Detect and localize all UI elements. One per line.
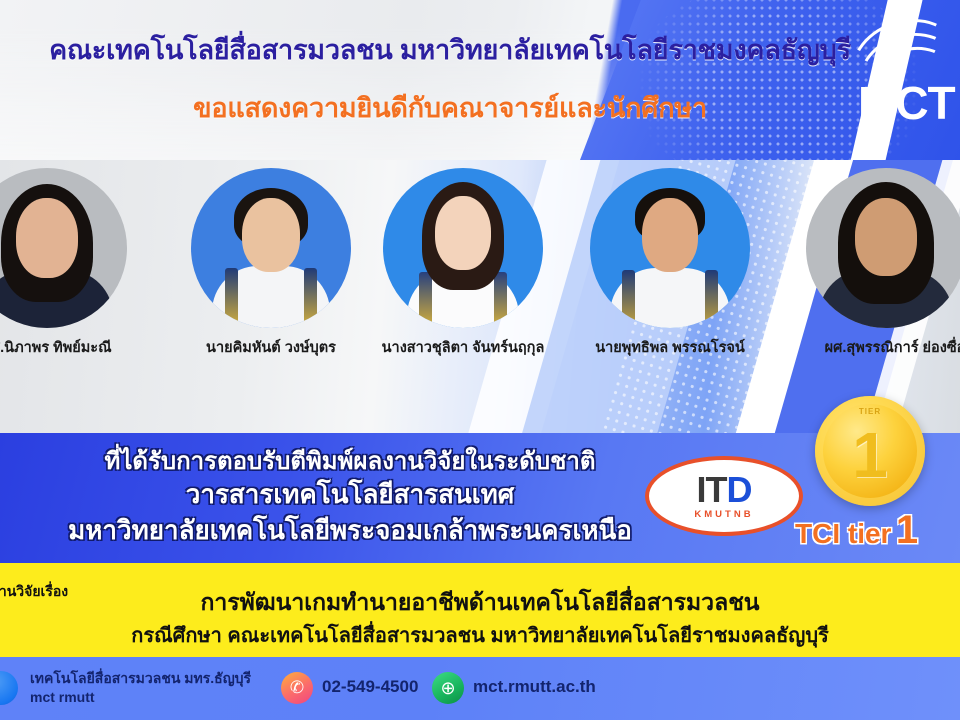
itd-logo-letters: ITD [696,472,751,508]
person-name: นายพุทธิพล พรรณโรจน์ [565,340,775,357]
avatar [590,168,750,328]
medal-number: 1 [852,423,888,487]
tci-tier-badge: TCI tier 1 [795,508,918,553]
poster-footer: เทคโนโลยีสื่อสารมวลชน มทร.ธัญบุรี mct rm… [0,657,960,720]
person-name: ผศ.สุพรรณิการ์ ย่องซื่อ [790,340,960,357]
portrait-head [16,198,78,278]
tci-tier-number: 1 [896,508,918,552]
people-photo-strip: ผศ.นิภาพร ทิพย์มะณี นายคิมหันต์ วงษ์บุตร [0,160,960,433]
avatar [0,168,127,328]
congratulations-poster: MCT คณะเทคโนโลยีสื่อสารมวลชน มหาวิทยาลัย… [0,0,960,720]
portrait-head [642,198,698,272]
portrait-sash [419,272,432,328]
research-subtitle: กรณีศึกษา คณะเทคโนโลยีสื่อสารมวลชน มหาวิ… [0,619,960,651]
header-background-pattern [0,0,620,160]
facebook-handle: mct rmutt [30,688,251,707]
itd-logo: ITD KMUTNB [645,456,803,536]
portrait-head [855,198,917,276]
itd-letter-t: T [706,469,727,510]
page-title: คณะเทคโนโลยีสื่อสารมวลชน มหาวิทยาลัยเทคโ… [0,28,900,71]
journal-line-2: วารสารเทคโนโลยีสารสนเทศ [0,479,700,511]
portrait-sash [494,272,507,328]
portrait-sash [622,270,635,328]
avatar [191,168,351,328]
gold-medal-icon: TIER 1 [815,396,925,506]
poster-header: MCT คณะเทคโนโลยีสื่อสารมวลชน มหาวิทยาลัย… [0,0,960,160]
avatar [806,168,960,328]
globe-icon[interactable]: ⊕ [432,672,464,704]
person-name: นางสาวชุลิตา จันทร์นฤกุล [358,340,568,357]
avatar-portrait [383,168,543,328]
tci-tier-label: TCI tier [795,518,891,549]
page-subtitle: ขอแสดงความยินดีกับคณาจารย์และนักศึกษา [0,86,900,129]
avatar [383,168,543,328]
website-url[interactable]: mct.rmutt.ac.th [473,677,596,697]
journal-line-3: มหาวิทยาลัยเทคโนโลยีพระจอมเกล้าพระนครเหน… [0,515,700,547]
avatar-portrait [0,168,127,328]
facebook-page-name: เทคโนโลยีสื่อสารมวลชน มทร.ธัญบุรี [30,669,251,688]
research-title-band: งานวิจัยเรื่อง การพัฒนาเกมทำนายอาชีพด้าน… [0,563,960,657]
phone-number[interactable]: 02-549-4500 [322,677,418,697]
facebook-contact: เทคโนโลยีสื่อสารมวลชน มทร.ธัญบุรี mct rm… [30,669,251,707]
itd-letter-d: D [727,469,752,510]
facebook-icon[interactable] [0,671,18,705]
avatar-portrait [590,168,750,328]
portrait-head [435,196,491,270]
person-name: นายคิมหันต์ วงษ์บุตร [166,340,376,357]
itd-letter-i: I [696,469,705,510]
phone-icon[interactable]: ✆ [281,672,313,704]
portrait-head [242,198,300,272]
research-title: การพัฒนาเกมทำนายอาชีพด้านเทคโนโลยีสื่อสา… [0,585,960,621]
avatar-portrait [806,168,960,328]
person-name: ผศ.นิภาพร ทิพย์มะณี [0,340,152,357]
portrait-sash [705,270,718,328]
journal-line-1: ที่ได้รับการตอบรับตีพิมพ์ผลงานวิจัยในระด… [0,447,700,476]
portrait-sash [304,268,317,328]
avatar-portrait [191,168,351,328]
itd-logo-subtitle: KMUTNB [694,509,753,520]
portrait-sash [225,268,238,328]
medal-tier-label: TIER [815,407,925,416]
